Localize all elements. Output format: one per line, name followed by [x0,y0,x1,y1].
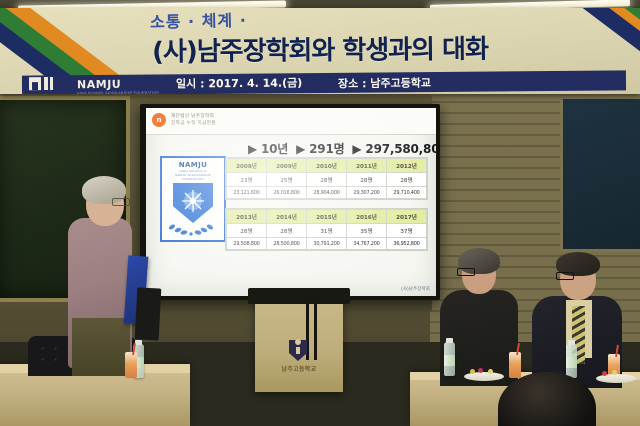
count-cell: 28명 [307,173,347,187]
table-row: 28명 28명 31명 35명 37명 [227,224,427,238]
year-cell: 2014년 [267,210,307,224]
amount-cell: 29,508,800 [227,238,267,250]
count-cell: 37명 [387,224,427,238]
count-cell: 28명 [267,224,307,238]
table-row: 23,121,600 26,016,800 28,904,000 29,307,… [227,187,427,199]
starburst-icon [181,189,205,213]
year-cell: 2017년 [387,210,427,224]
water-bottle [566,344,577,378]
year-cell: 2015년 [307,210,347,224]
bottle-cap [446,338,453,343]
speaker-trousers [72,318,130,376]
bottle-cap [135,340,142,345]
laurel-wreath-icon [165,222,217,238]
emblem-sub-2: NAMJU SCHOLARSHIP FOUNDATION [164,173,222,181]
podium-school-name: 남주고등학교 [268,364,330,373]
year-cell: 2016년 [347,210,387,224]
table-row: 2013년 2014년 2015년 2016년 2017년 [227,210,427,224]
namju-logo-icon [28,74,74,92]
projector-screen: n 재단법인 남주장학회 장학금 누적 지급현황 ▶ 10년 ▶ 291명 ▶ … [146,108,436,296]
fruit-piece [470,369,475,374]
year-cell: 2010년 [307,159,347,173]
amount-cell: 29,307,200 [347,187,387,199]
kpi-amount: ▶ 297,580,800 [352,142,436,156]
juice-cup [509,352,521,378]
fruit-piece [478,368,483,373]
school-emblem: NAMJU HIGH SCHOOL of NAMJU SCHOLARSHIP F… [160,156,226,242]
kpi-years: ▶ 10년 [248,142,288,156]
scholarship-table-2008-2012: 2008년 2009년 2010년 2011년 2012년 23명 25명 28… [226,158,427,199]
podium-rod [314,302,317,360]
amount-cell: 30,791,200 [307,238,347,250]
count-cell: 31명 [307,224,347,238]
banner-brand-sub: HIGH SCHOOL SCHOLARSHIP FOUNDATION [77,91,159,94]
banner-brand-word: NAMJU [77,78,121,91]
amount-cell: 29,710,400 [387,187,427,199]
count-cell: 28명 [227,224,267,238]
count-cell: 28명 [387,173,427,187]
emblem-word: NAMJU [164,161,222,169]
seated-right-glasses-icon [556,272,574,280]
slide-footer: (사)남주장학회 [401,286,430,292]
year-cell: 2008년 [227,159,267,173]
bottle-cap [568,340,575,345]
amount-cell: 26,016,800 [267,187,307,199]
slide-kpi-row: ▶ 10년 ▶ 291명 ▶ 297,580,800 [248,140,436,157]
speaker-bag [135,287,162,340]
year-cell: 2009년 [267,159,307,173]
fruit-piece [488,369,493,374]
count-cell: 23명 [227,173,267,187]
fruit-piece [602,371,607,376]
amount-cell: 28,500,800 [267,238,307,250]
amount-cell: 28,904,000 [307,187,347,199]
banner-date: 일시 : 2017. 4. 14.(금) [176,74,302,91]
water-bottle [444,342,455,376]
slide-header: n 재단법인 남주장학회 장학금 누적 지급현황 [146,108,436,135]
chalkboard-right [560,96,640,252]
bottle-label [566,357,577,368]
year-cell: 2012년 [387,159,427,173]
year-cell: 2013년 [227,210,267,224]
kpi-people: ▶ 291명 [296,142,344,156]
amount-cell: 23,121,600 [227,187,267,199]
seated-left-glasses-icon [457,268,475,276]
slide-header-line-2: 장학금 누적 지급현황 [171,120,216,126]
shield-icon [173,183,213,223]
podium-school-crest-icon [287,338,309,362]
event-banner: 소통 · 체계 · (사)남주장학회와 학생과의 대화 NAMJU HIGH S… [0,8,640,94]
bottle-label [444,355,455,366]
speaker-glasses-icon [112,198,130,206]
podium-top-monitor [248,288,350,304]
classroom-photo-scene: 소통 · 체계 · (사)남주장학회와 학생과의 대화 NAMJU HIGH S… [0,0,640,426]
juice-cup [125,352,137,378]
amount-cell: 34,767,200 [347,238,387,250]
table-row: 29,508,800 28,500,800 30,791,200 34,767,… [227,238,427,250]
straw [516,343,520,355]
scholarship-table-2013-2017: 2013년 2014년 2015년 2016년 2017년 28명 28명 31… [226,209,427,250]
year-cell: 2011년 [347,159,387,173]
count-cell: 28명 [347,173,387,187]
count-cell: 25명 [267,173,307,187]
table-row: 2008년 2009년 2010년 2011년 2012년 [227,159,427,173]
table-row: 23명 25명 28명 28명 28명 [227,173,427,187]
amount-cell: 36,952,800 [387,238,427,250]
slide-header-line-1: 재단법인 남주장학회 [171,113,214,119]
fruit-piece [612,370,617,375]
banner-main-title: (사)남주장학회와 학생과의 대화 [0,27,640,70]
banner-place: 장소 : 남주고등학교 [338,75,431,92]
slide-header-logo-icon: n [152,113,166,127]
count-cell: 35명 [347,224,387,238]
